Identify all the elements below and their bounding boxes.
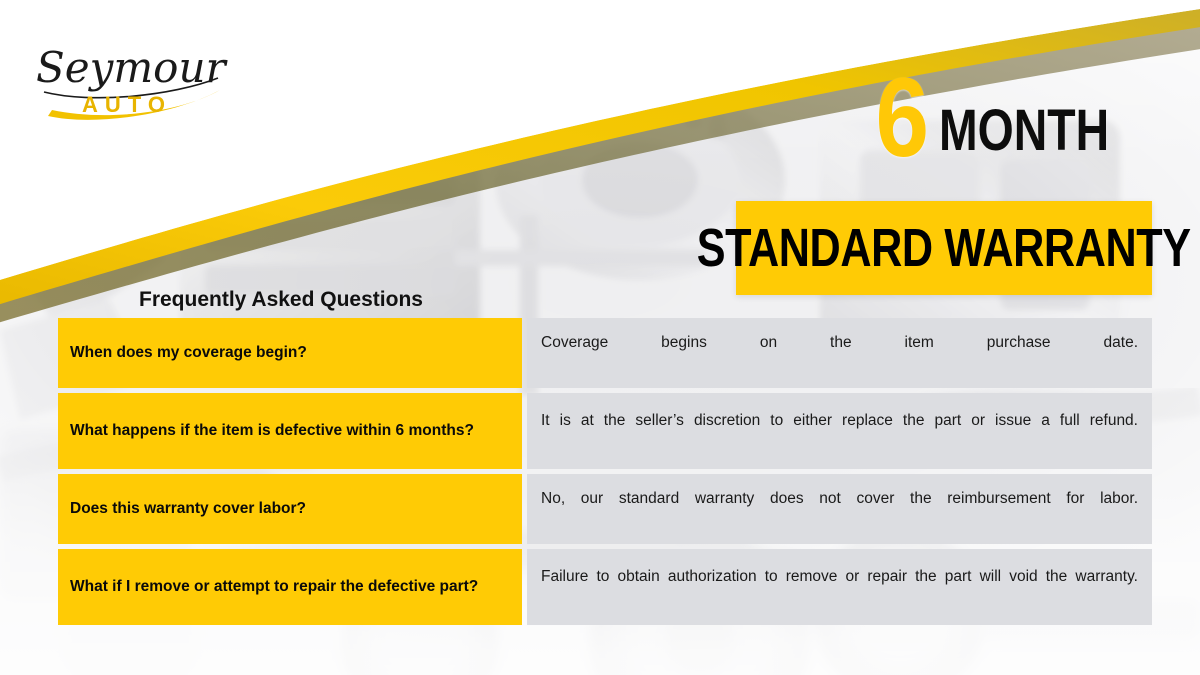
warranty-duration-headline: 6 MONTH [867,72,1152,164]
faq-question-text: What happens if the item is defective wi… [70,421,474,442]
faq-question-text: When does my coverage begin? [70,343,307,364]
faq-answer-cell: Coverage begins on the item purchase dat… [527,318,1152,388]
faq-question-cell: Does this warranty cover labor? [58,474,522,544]
faq-question-cell: What if I remove or attempt to repair th… [58,549,522,625]
table-row: What if I remove or attempt to repair th… [58,549,1152,625]
faq-heading: Frequently Asked Questions [139,288,423,312]
table-row: When does my coverage begin? Coverage be… [58,318,1152,388]
table-row: What happens if the item is defective wi… [58,393,1152,469]
faq-question-cell: What happens if the item is defective wi… [58,393,522,469]
faq-question-text: Does this warranty cover labor? [70,499,306,520]
faq-answer-cell: It is at the seller’s discretion to eith… [527,393,1152,469]
faq-answer-text: Failure to obtain authorization to remov… [541,566,1138,609]
warranty-slide: Seymour AUTO 6 MONTH STANDARD WARRANTY F… [0,0,1200,675]
faq-answer-text: It is at the seller’s discretion to eith… [541,410,1138,453]
faq-question-text: What if I remove or attempt to repair th… [70,577,478,598]
duration-number: 6 [876,72,928,164]
faq-answer-text: No, our standard warranty does not cover… [541,488,1138,531]
faq-question-cell: When does my coverage begin? [58,318,522,388]
faq-table: When does my coverage begin? Coverage be… [58,318,1152,625]
faq-answer-cell: No, our standard warranty does not cover… [527,474,1152,544]
logo-auto-text: AUTO [82,92,172,117]
seymour-auto-logo[interactable]: Seymour AUTO [22,20,237,130]
table-row: Does this warranty cover labor? No, our … [58,474,1152,544]
standard-warranty-banner: STANDARD WARRANTY [736,201,1152,295]
duration-unit: MONTH [939,103,1109,164]
faq-answer-text: Coverage begins on the item purchase dat… [541,332,1138,375]
standard-warranty-title: STANDARD WARRANTY [697,221,1191,275]
faq-answer-cell: Failure to obtain authorization to remov… [527,549,1152,625]
